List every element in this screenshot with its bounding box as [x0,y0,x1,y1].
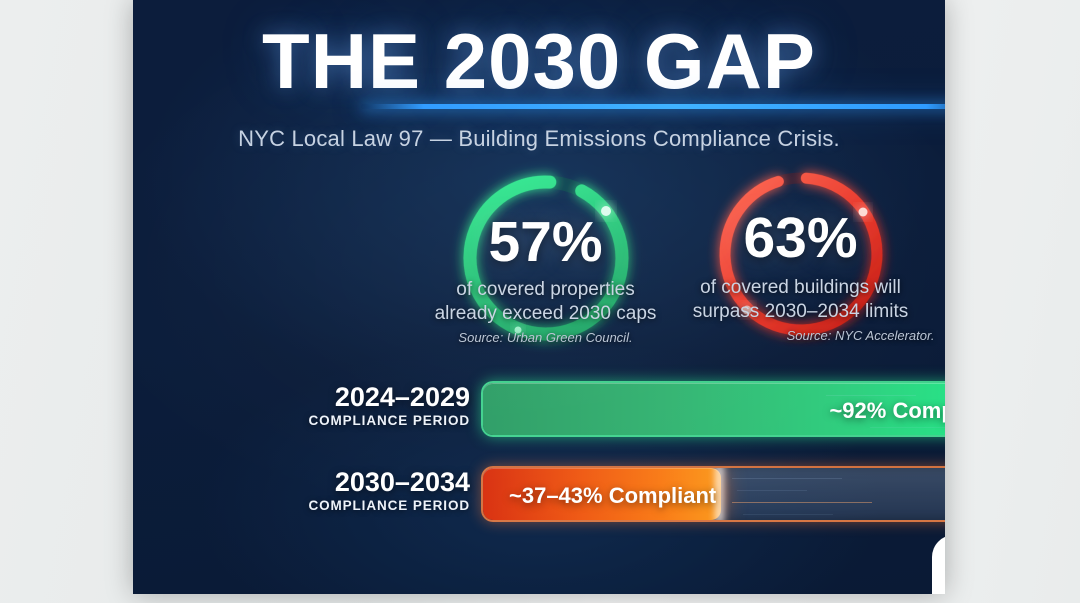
bar-sublabel-1: COMPLIANCE PERIOD [308,413,470,428]
bar-sublabel-2: COMPLIANCE PERIOD [308,498,470,513]
bar-years-1: 2024–2029 [308,383,470,411]
bar-period-label-1: 2024–2029 COMPLIANCE PERIOD [308,383,470,428]
stat-percent-green: 57% [433,214,658,271]
stat-caption-red: of covered buildings will surpass 2030–2… [670,276,931,325]
stat-caption-green-line1: of covered properties [456,279,635,300]
compliance-bar-2024-2029: 2024–2029 COMPLIANCE PERIOD ~92% Complia… [308,381,945,439]
stat-caption-red-line2: surpass 2030–2034 limits [693,301,908,322]
stat-percent-red: 63% [688,210,913,267]
title-divider [361,104,945,109]
brand-logo-panel: DENAIR [932,535,945,594]
stat-source-red: Source: NYC Accelerator. [748,328,945,343]
page-title: THE 2030 GAP [133,22,945,100]
stat-source-green: Source: Urban Green Council. [413,330,678,345]
compliance-bar-2030-2034: 2030–2034 COMPLIANCE PERIOD ~37–43% Comp… [308,466,945,524]
stat-caption-red-line1: of covered buildings will [700,277,901,298]
bar-period-label-2: 2030–2034 COMPLIANCE PERIOD [308,468,470,513]
stat-donut-surpass-2030-2034-limits: 63% of covered buildings will surpass 20… [688,166,913,356]
bar-years-2: 2030–2034 [308,468,470,496]
bar-value-label-1: ~92% Compliant [829,383,945,437]
stat-donut-exceed-2030-caps: 57% of covered properties already exceed… [433,170,658,355]
bar-track-2: ~37–43% Compliant [481,466,945,522]
infographic-card: THE 2030 GAP NYC Local Law 97 — Building… [133,0,945,594]
stat-caption-green-line2: already exceed 2030 caps [435,303,657,324]
bar-track-1: ~92% Compliant [481,381,945,437]
page-subtitle: NYC Local Law 97 — Building Emissions Co… [133,126,945,152]
bar-value-label-2: ~37–43% Compliant [509,468,716,522]
stat-caption-green: of covered properties already exceed 203… [415,278,676,327]
screenshot-stage: THE 2030 GAP NYC Local Law 97 — Building… [0,0,1080,603]
